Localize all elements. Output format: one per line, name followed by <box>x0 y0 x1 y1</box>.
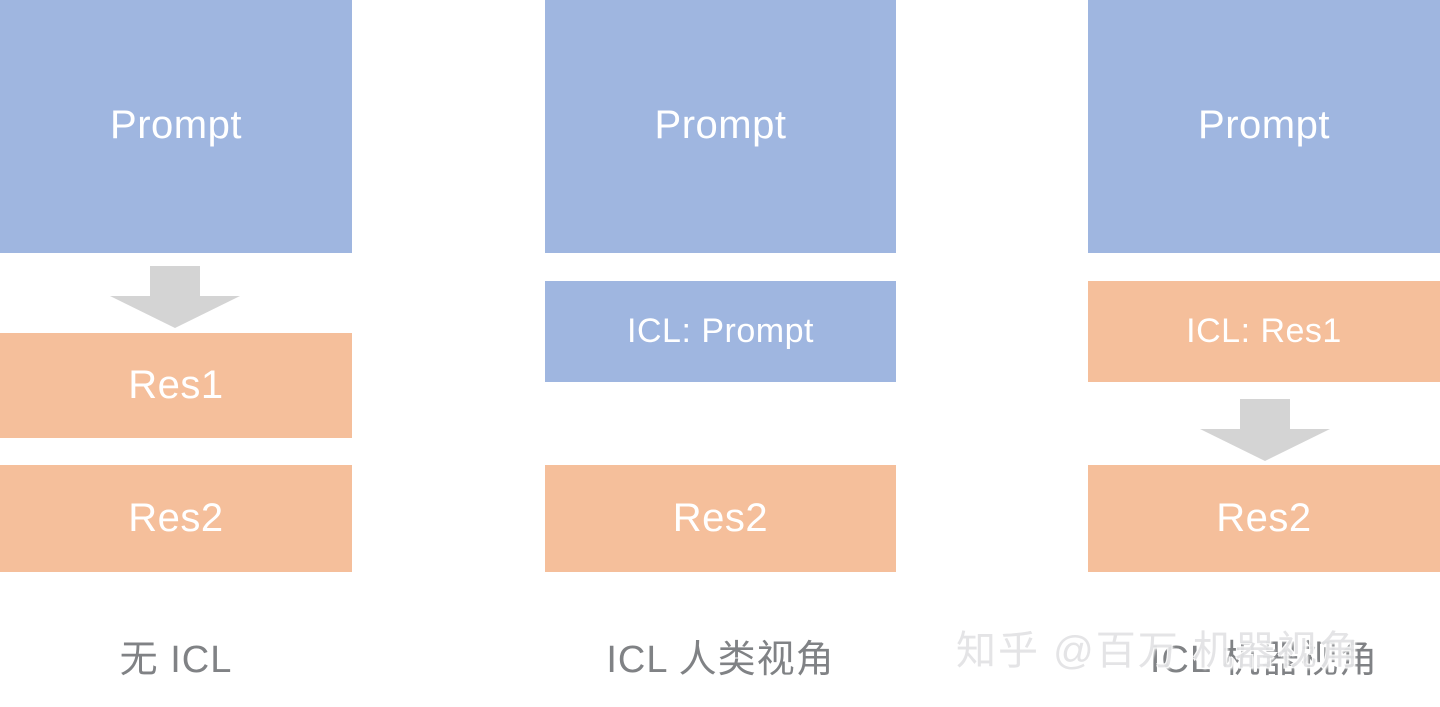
box-label: Prompt <box>655 103 787 148</box>
box-label: Prompt <box>110 103 242 148</box>
column-icl-human-view: Prompt ICL: Prompt Res2 <box>545 0 896 707</box>
box-label: Res2 <box>1216 496 1311 541</box>
box-icl-res1-col3: ICL: Res1 <box>1088 281 1440 382</box>
caption-icl-machine-view: ICL 机器视角 <box>1088 620 1440 690</box>
column-icl-machine-view: Prompt ICL: Res1 Res2 <box>1088 0 1440 707</box>
box-label: Res2 <box>128 496 223 541</box>
down-arrow-shape <box>110 266 240 328</box>
box-res1-col1: Res1 <box>0 333 352 438</box>
box-prompt-col2: Prompt <box>545 0 896 253</box>
box-res2-col1: Res2 <box>0 465 352 572</box>
box-label: Res2 <box>673 496 768 541</box>
box-label: Prompt <box>1198 103 1330 148</box>
diagram-canvas: Prompt Res1 Res2 Prompt ICL: Prompt R <box>0 0 1440 707</box>
box-icl-prompt-col2: ICL: Prompt <box>545 281 896 382</box>
box-res2-col2: Res2 <box>545 465 896 572</box>
box-label: Res1 <box>128 363 223 408</box>
box-res2-col3: Res2 <box>1088 465 1440 572</box>
box-prompt-col1: Prompt <box>0 0 352 253</box>
box-label: ICL: Prompt <box>627 312 814 351</box>
down-arrow-icon-col1 <box>110 266 240 328</box>
box-prompt-col3: Prompt <box>1088 0 1440 253</box>
box-label: ICL: Res1 <box>1186 312 1342 351</box>
caption-icl-human-view: ICL 人类视角 <box>545 620 896 690</box>
caption-no-icl: 无 ICL <box>0 620 352 690</box>
column-no-icl: Prompt Res1 Res2 <box>0 0 352 707</box>
